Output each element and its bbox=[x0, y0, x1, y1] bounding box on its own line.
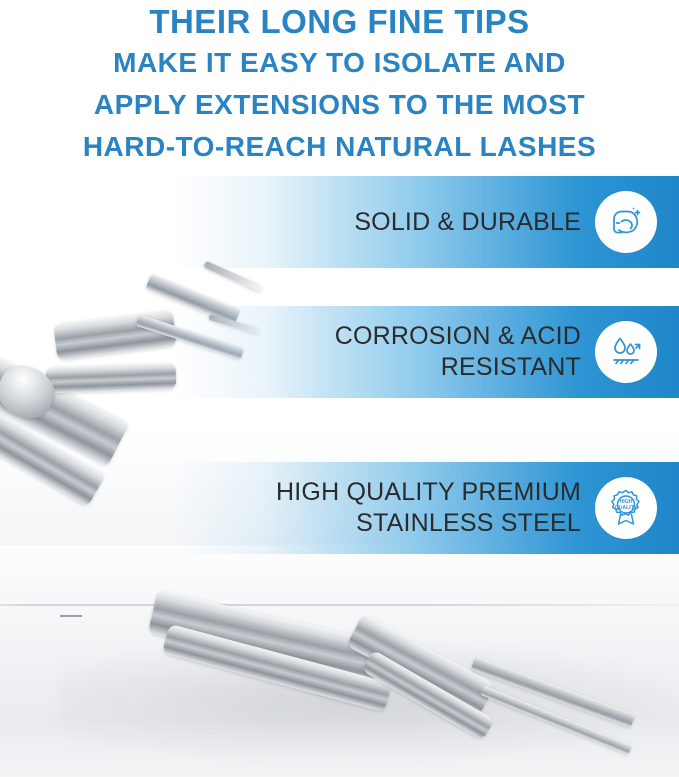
badge-text-line-2: QUALITY bbox=[615, 505, 638, 511]
feature-icon-circle bbox=[595, 191, 657, 253]
high-quality-badge-icon: HIGH QUALITY bbox=[604, 486, 648, 530]
feature-label: CORROSION & ACID RESISTANT bbox=[335, 321, 595, 383]
feature-row-solid-durable: SOLID & DURABLE bbox=[0, 176, 679, 268]
headline-line-4: HARD-TO-REACH NATURAL LASHES bbox=[0, 126, 679, 168]
headline-line-2: MAKE IT EASY TO ISOLATE AND bbox=[0, 42, 679, 84]
water-drops-resistant-icon bbox=[606, 332, 646, 372]
feature-icon-circle: HIGH QUALITY bbox=[595, 477, 657, 539]
headline-line-3: APPLY EXTENSIONS TO THE MOST bbox=[0, 84, 679, 126]
feature-label: SOLID & DURABLE bbox=[354, 207, 595, 238]
flexed-biceps-icon bbox=[606, 202, 646, 242]
feature-icon-circle bbox=[595, 321, 657, 383]
feature-label: HIGH QUALITY PREMIUM STAINLESS STEEL bbox=[276, 477, 595, 539]
tweezer-lower bbox=[150, 575, 670, 765]
surface-tick-mark bbox=[60, 615, 82, 617]
feature-row-high-quality-steel: HIGH QUALITY PREMIUM STAINLESS STEEL HIG… bbox=[0, 462, 679, 554]
product-infographic: THEIR LONG FINE TIPS MAKE IT EASY TO ISO… bbox=[0, 0, 679, 777]
headline-line-1: THEIR LONG FINE TIPS bbox=[0, 0, 679, 42]
feature-row-corrosion-acid-resistant: CORROSION & ACID RESISTANT bbox=[0, 306, 679, 398]
headline: THEIR LONG FINE TIPS MAKE IT EASY TO ISO… bbox=[0, 0, 679, 168]
badge-text-line-1: HIGH bbox=[620, 499, 633, 505]
